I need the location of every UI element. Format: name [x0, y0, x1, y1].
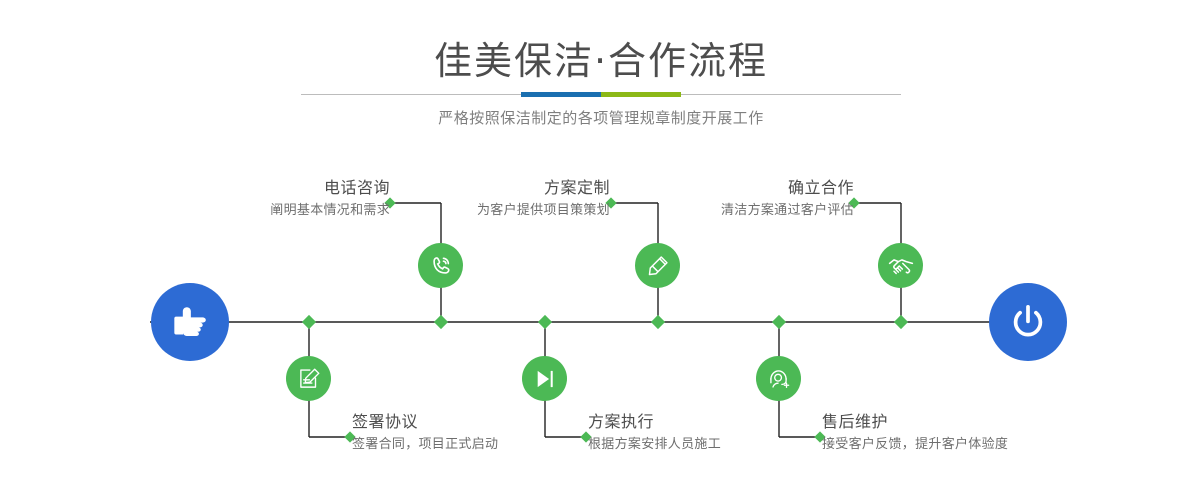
step-node-5[interactable]	[878, 243, 923, 288]
page-subtitle: 严格按照保洁制定的各项管理规章制度开展工作	[0, 106, 1202, 130]
step-label-5: 确立合作 清洁方案通过客户评估	[604, 177, 854, 221]
step-desc-3: 为客户提供项目策策划	[360, 201, 610, 221]
step-node-2[interactable]	[286, 356, 331, 401]
step-label-3: 方案定制 为客户提供项目策策划	[360, 177, 610, 221]
phone-call-icon	[428, 253, 454, 279]
flow-end-node[interactable]	[989, 283, 1067, 361]
support-headset-icon	[765, 365, 792, 392]
timeline-diamond-5	[894, 315, 908, 329]
step-label-6: 售后维护 接受客户反馈，提升客户体验度	[822, 411, 1122, 455]
timeline-diamond-6	[772, 315, 786, 329]
process-flow-diagram: 电话咨询 阐明基本情况和需求 方案定制 为客户提供项目策策划 确立合作 清洁方案…	[0, 145, 1202, 502]
timeline-diamond-4	[538, 315, 552, 329]
step-node-4[interactable]	[522, 356, 567, 401]
step-desc-5: 清洁方案通过客户评估	[604, 201, 854, 221]
timeline-diamond-3	[651, 315, 665, 329]
handshake-icon	[887, 252, 915, 280]
step-label-1: 电话咨询 阐明基本情况和需求	[140, 177, 390, 221]
divider-segment-blue	[521, 92, 601, 97]
step-title-6: 售后维护	[822, 411, 1122, 433]
step-title-1: 电话咨询	[140, 177, 390, 199]
step-title-3: 方案定制	[360, 177, 610, 199]
timeline-diamond-2	[302, 315, 316, 329]
step-node-3[interactable]	[635, 243, 680, 288]
step-desc-1: 阐明基本情况和需求	[140, 201, 390, 221]
power-icon	[1006, 300, 1050, 344]
sign-document-icon	[296, 366, 322, 392]
page-header: 佳美保洁·合作流程 严格按照保洁制定的各项管理规章制度开展工作	[0, 0, 1202, 145]
page-title: 佳美保洁·合作流程	[0, 38, 1202, 84]
step-node-6[interactable]	[756, 356, 801, 401]
play-execute-icon	[532, 366, 558, 392]
pencil-edit-icon	[645, 253, 671, 279]
timeline-diamond-1	[434, 315, 448, 329]
title-divider	[301, 92, 901, 98]
pointing-hand-icon	[167, 299, 213, 345]
step-node-1[interactable]	[418, 243, 463, 288]
step-desc-6: 接受客户反馈，提升客户体验度	[822, 435, 1122, 455]
flow-start-node[interactable]	[151, 283, 229, 361]
divider-segment-green	[601, 92, 681, 97]
step-title-5: 确立合作	[604, 177, 854, 199]
